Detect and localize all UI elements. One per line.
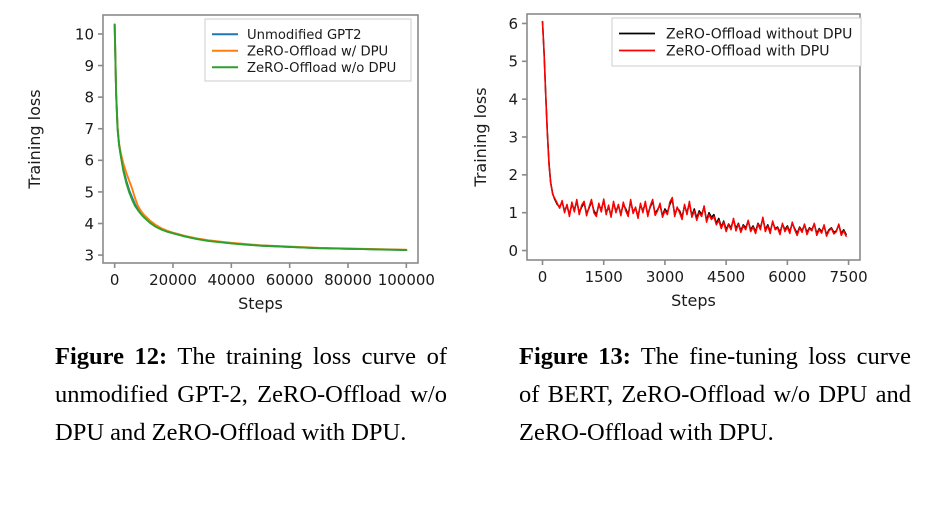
figure-12-caption: Figure 12: The training loss curve of un… — [55, 338, 447, 452]
y-tick-label: 3 — [508, 128, 518, 146]
x-tick-label: 0 — [110, 271, 120, 289]
y-tick-label: 4 — [84, 215, 94, 233]
legend-label: ZeRO-Offload without DPU — [666, 27, 852, 43]
x-tick-label: 3000 — [646, 268, 684, 286]
x-tick-label: 40000 — [207, 271, 255, 289]
legend-label: Unmodified GPT2 — [247, 28, 362, 43]
y-axis-label: Training loss — [25, 89, 44, 189]
x-tick-label: 100000 — [378, 271, 435, 289]
figure-13-column: 0150030004500600075000123456StepsTrainin… — [468, 0, 935, 513]
y-axis-label: Training loss — [471, 87, 490, 187]
y-tick-label: 7 — [84, 120, 94, 138]
y-tick-label: 9 — [84, 57, 94, 75]
y-tick-label: 6 — [508, 15, 518, 33]
y-tick-label: 4 — [508, 91, 518, 109]
y-tick-label: 6 — [84, 152, 94, 170]
x-axis-label: Steps — [238, 294, 283, 313]
figure-12-plot: 020000400006000080000100000345678910Step… — [0, 0, 467, 320]
figure-13-caption-label: Figure 13: — [519, 343, 631, 370]
figure-13-plot: 0150030004500600075000123456StepsTrainin… — [468, 0, 935, 320]
x-tick-label: 1500 — [585, 268, 623, 286]
y-tick-label: 3 — [84, 247, 94, 265]
legend-label: ZeRO-Offload w/o DPU — [247, 61, 396, 76]
figure-page: 020000400006000080000100000345678910Step… — [0, 0, 935, 513]
y-tick-label: 1 — [508, 204, 518, 222]
figure-12-svg: 020000400006000080000100000345678910Step… — [0, 0, 467, 320]
figure-13-svg: 0150030004500600075000123456StepsTrainin… — [468, 0, 935, 320]
y-tick-label: 0 — [508, 242, 518, 260]
x-tick-label: 0 — [538, 268, 548, 286]
x-tick-label: 6000 — [768, 268, 806, 286]
x-tick-label: 60000 — [266, 271, 314, 289]
x-tick-label: 20000 — [149, 271, 197, 289]
x-tick-label: 80000 — [324, 271, 372, 289]
y-tick-label: 2 — [508, 166, 518, 184]
x-tick-label: 4500 — [707, 268, 745, 286]
y-tick-label: 10 — [75, 25, 94, 43]
figure-12-column: 020000400006000080000100000345678910Step… — [0, 0, 467, 513]
legend-label: ZeRO-Offload w/ DPU — [247, 45, 388, 60]
figure-12-caption-label: Figure 12: — [55, 343, 167, 370]
y-tick-label: 8 — [84, 89, 94, 107]
y-tick-label: 5 — [508, 53, 518, 71]
figure-13-caption: Figure 13: The fine-tuning loss curve of… — [519, 338, 911, 452]
x-axis-label: Steps — [671, 291, 716, 310]
y-tick-label: 5 — [84, 183, 94, 201]
legend-label: ZeRO-Offload with DPU — [666, 44, 829, 60]
x-tick-label: 7500 — [829, 268, 867, 286]
